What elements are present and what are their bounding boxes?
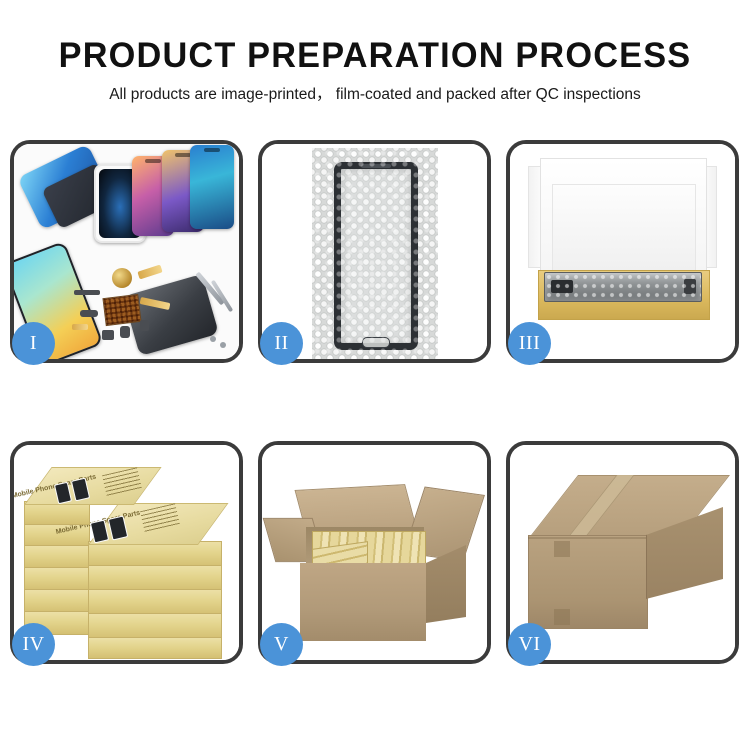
speaker-module-part	[112, 268, 132, 288]
connector-chip-part	[102, 294, 141, 326]
packed-phone-screen	[544, 272, 702, 302]
step-badge-5: V	[260, 623, 303, 666]
carton-tab-bottom	[554, 609, 570, 625]
screw-part	[220, 342, 226, 348]
flex-cable-part	[72, 324, 88, 330]
process-step-panel-1[interactable]: I	[10, 140, 243, 363]
process-step-panel-3[interactable]: III	[506, 140, 739, 363]
home-button-icon	[362, 337, 390, 348]
stacked-box-edge	[88, 613, 222, 639]
stacked-box-edge	[88, 565, 222, 591]
small-part	[140, 320, 149, 331]
earpiece-slot-icon	[361, 164, 391, 168]
process-step-panel-4[interactable]: Mobile Phone Spare Parts Mobile Phone Sp…	[10, 441, 243, 664]
step-badge-1: I	[12, 322, 55, 365]
carton-front-face	[528, 535, 648, 629]
notch-icon	[175, 153, 191, 157]
process-step-panel-5[interactable]: V	[258, 441, 491, 664]
process-step-panel-6[interactable]: VI	[506, 441, 739, 664]
screen-connector-part	[684, 279, 696, 294]
carton-tab-left	[554, 541, 570, 557]
stacked-box-edge	[88, 589, 222, 615]
page-header: PRODUCT PREPARATION PROCESS All products…	[0, 0, 750, 106]
box-lid-inner-panel	[552, 184, 696, 272]
screen-chip-part	[551, 280, 573, 293]
step-badge-6: VI	[508, 623, 551, 666]
notch-icon	[204, 148, 220, 152]
blue-gradient-phone	[190, 145, 234, 229]
stacked-box-edge	[24, 567, 90, 591]
process-step-panel-2[interactable]: II	[258, 140, 491, 363]
notch-icon	[145, 159, 161, 163]
small-part	[80, 310, 98, 317]
step-badge-4: IV	[12, 623, 55, 666]
small-part	[120, 326, 130, 338]
screw-part	[210, 336, 216, 342]
carton-front-face	[300, 563, 426, 641]
step-badge-3: III	[508, 322, 551, 365]
stacked-box-edge	[88, 637, 222, 659]
bubble-wrap-sheet	[312, 148, 438, 359]
small-part	[102, 330, 114, 340]
small-part	[74, 290, 100, 295]
carton-edge-seam	[528, 537, 646, 539]
flex-cable-part	[137, 264, 162, 279]
step-badge-2: II	[260, 322, 303, 365]
page-title: PRODUCT PREPARATION PROCESS	[8, 36, 743, 76]
stacked-box-edge	[24, 545, 90, 569]
page-subtitle: All products are image-printed， film-coa…	[0, 84, 750, 106]
phone-glass-frame	[334, 162, 418, 350]
stacked-box-edge	[24, 589, 90, 613]
process-step-grid: I II	[10, 140, 740, 674]
